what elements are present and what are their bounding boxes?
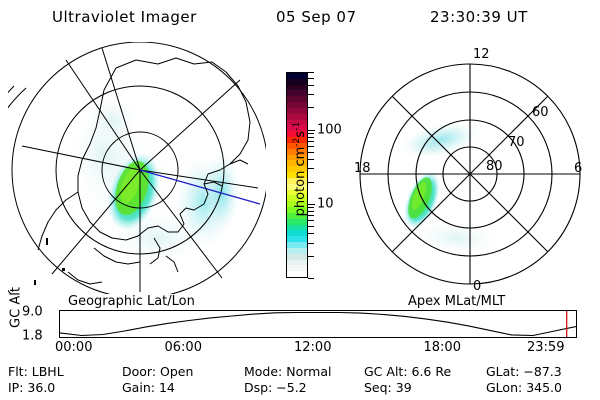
colorbar-minor-tick-21 xyxy=(308,85,314,86)
status-value: LBHL xyxy=(32,364,64,379)
mlt-label-12: 12 xyxy=(473,47,490,62)
colorbar-minor-tick-23 xyxy=(308,72,314,73)
status-value: 6.6 Re xyxy=(412,364,452,379)
colorbar-unit-exp1: -2 xyxy=(292,138,302,147)
orbit-altitude-curve xyxy=(60,313,576,336)
colorbar-minor-tick-22 xyxy=(308,78,314,79)
status-glon: GLon: 345.0 xyxy=(486,380,562,395)
colorbar-minor-tick-20 xyxy=(308,94,314,95)
status-label: Gain: xyxy=(122,380,159,395)
colorbar-minor-tick-19 xyxy=(308,107,314,108)
orbit-plot-box xyxy=(59,310,577,338)
status-seq: Seq: 39 xyxy=(364,380,412,395)
colorbar-minor-tick-15 xyxy=(308,141,314,142)
colorbar-minor-tick-1 xyxy=(308,256,314,257)
colorbar-minor-tick-2 xyxy=(308,243,314,244)
colorbar-minor-tick-12 xyxy=(308,159,314,160)
status-dsp: Dsp: −5.2 xyxy=(244,380,307,395)
colorbar-minor-tick-16 xyxy=(308,137,314,138)
status-mode: Mode: Normal xyxy=(244,364,331,379)
status-value: 345.0 xyxy=(526,380,562,395)
colorbar-axis-title: photon cm-2s-1 xyxy=(292,69,308,269)
magnetic-panel-title: Apex MLat/MLT xyxy=(408,294,505,309)
status-gain: Gain: 14 xyxy=(122,380,175,395)
status-label: IP: xyxy=(8,380,27,395)
orbit-xtick-2: 12:00 xyxy=(294,340,331,355)
observation-time: 23:30:39 UT xyxy=(430,8,528,26)
status-label: Flt: xyxy=(8,364,32,379)
orbit-xtick-1: 06:00 xyxy=(165,340,202,355)
colorbar-unit-main: photon cm xyxy=(293,147,308,217)
status-value: −87.3 xyxy=(523,364,561,379)
status-value: 39 xyxy=(396,380,412,395)
status-label: Mode: xyxy=(244,364,286,379)
orbit-ytick-high: 9.0 xyxy=(22,306,43,319)
colorbar-minor-tick-4 xyxy=(308,226,314,227)
status-value: Normal xyxy=(286,364,331,379)
mlt-spokes xyxy=(360,64,580,284)
status-gcalt: GC Alt: 6.6 Re xyxy=(364,364,451,379)
colorbar: photon cm-2s-1 10010 xyxy=(262,58,332,294)
colorbar-major-tick-100 xyxy=(308,130,315,131)
status-label: GLat: xyxy=(486,364,523,379)
colorbar-tick-label-10: 10 xyxy=(317,197,334,210)
colorbar-minor-tick-3 xyxy=(308,233,314,234)
status-label: GLon: xyxy=(486,380,526,395)
status-ip: IP: 36.0 xyxy=(8,380,55,395)
status-value: 36.0 xyxy=(27,380,55,395)
colorbar-minor-tick-8 xyxy=(308,207,314,208)
instrument-title: Ultraviolet Imager xyxy=(52,8,197,26)
colorbar-ticks xyxy=(308,72,315,278)
orbit-trace xyxy=(60,311,576,337)
status-value: Open xyxy=(160,364,193,379)
geographic-panel-title: Geographic Lat/Lon xyxy=(68,294,195,309)
mlt-label-18: 18 xyxy=(354,161,371,176)
orbit-xtick-3: 18:00 xyxy=(424,340,461,355)
status-label: Seq: xyxy=(364,380,396,395)
status-value: 14 xyxy=(159,380,175,395)
colorbar-unit-mid: s xyxy=(293,131,308,138)
mlt-label-6: 6 xyxy=(574,161,582,176)
magnetic-polar-panel[interactable]: 12 6 0 18 60 70 80 xyxy=(336,42,594,294)
status-bar: Flt: LBHLDoor: OpenMode: NormalGC Alt: 6… xyxy=(0,364,600,398)
colorbar-minor-tick-14 xyxy=(308,146,314,147)
colorbar-minor-tick-7 xyxy=(308,211,314,212)
orbit-xtick-0: 00:00 xyxy=(55,340,92,355)
observation-date: 05 Sep 07 xyxy=(276,8,356,26)
colorbar-minor-tick-0 xyxy=(308,278,314,279)
colorbar-band-34 xyxy=(287,271,307,277)
mlat-labels: 60 70 80 xyxy=(486,105,549,174)
status-flt: Flt: LBHL xyxy=(8,364,64,379)
status-label: GC Alt: xyxy=(364,364,412,379)
status-door: Door: Open xyxy=(122,364,193,379)
status-glat: GLat: −87.3 xyxy=(486,364,562,379)
colorbar-major-tick-10 xyxy=(308,204,315,205)
colorbar-unit-exp2: -1 xyxy=(292,122,302,131)
orbit-altitude-plot[interactable]: Geographic Lat/Lon Apex MLat/MLT GC Alt … xyxy=(0,294,600,358)
coastline-islands xyxy=(34,238,65,285)
status-label: Door: xyxy=(122,364,160,379)
orbit-xtick-4: 23:59 xyxy=(527,340,564,355)
mag-aurora xyxy=(397,116,500,258)
geo-map-content xyxy=(8,42,266,294)
colorbar-minor-tick-10 xyxy=(308,182,314,183)
colorbar-minor-tick-17 xyxy=(308,133,314,134)
geographic-map-panel[interactable] xyxy=(8,42,266,294)
status-label: Dsp: xyxy=(244,380,276,395)
mlat-label-80: 80 xyxy=(486,159,503,174)
colorbar-minor-tick-11 xyxy=(308,168,314,169)
colorbar-minor-tick-5 xyxy=(308,220,314,221)
header-bar: Ultraviolet Imager 05 Sep 07 23:30:39 UT xyxy=(0,8,600,34)
orbit-ytick-low: 1.8 xyxy=(22,330,43,343)
mlat-label-60: 60 xyxy=(532,105,549,120)
mlt-label-0: 0 xyxy=(473,279,481,294)
mlat-label-70: 70 xyxy=(508,135,525,150)
colorbar-minor-tick-6 xyxy=(308,215,314,216)
status-value: −5.2 xyxy=(276,380,306,395)
colorbar-minor-tick-13 xyxy=(308,152,314,153)
